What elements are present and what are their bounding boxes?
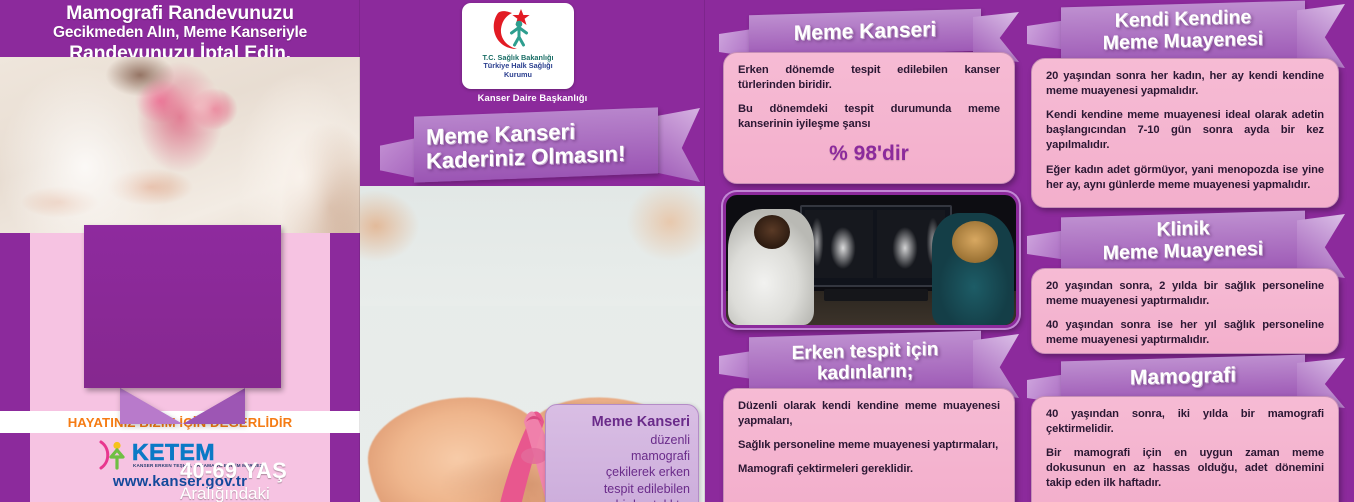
callout-ribbon-tail [120, 388, 245, 424]
card-body-pad: Düzenli olarak kendi kendine meme muayen… [724, 389, 1014, 485]
card-body-mamografi: 40 yaşından sonra, iki yılda bir mamogra… [1031, 396, 1339, 502]
card-title-kendi-kendine: Kendi Kendine Meme Muayenesi [1061, 1, 1305, 56]
card-body-meme-kanseri: Erken dönemde tespit edilebilen kanser t… [723, 52, 1015, 184]
center-note-card: Meme Kanseri düzenli mamografi çekilerek… [545, 404, 699, 502]
erken-tespit-paragraph-3: Mamografi çektirmeleri gereklidir. [738, 462, 1000, 477]
left-panel: Mamografi Randevunuzu Gecikmeden Alın, M… [0, 0, 360, 502]
kendi-kendine-paragraph-2: Kendi kendine meme muayenesi ideal olara… [1046, 108, 1324, 153]
center-note-line1: düzenli [554, 432, 690, 448]
card-body-klinik: 20 yaşından sonra, 2 yılda bir sağlık pe… [1031, 268, 1339, 354]
card-body-pad: 20 yaşından sonra, 2 yılda bir sağlık pe… [1032, 269, 1338, 356]
card-body-kendi-kendine: 20 yaşından sonra her kadın, her ay kend… [1031, 58, 1339, 208]
center-panel: T.C. Sağlık Bakanlığı Türkiye Halk Sağlı… [360, 0, 705, 502]
doctor-and-patient-reviewing-mammogram-photo [723, 192, 1019, 328]
meme-kanseri-paragraph-2: Bu dönemdeki tespit durumunda meme kanse… [738, 102, 1000, 132]
breast-cancer-awareness-poster: Mamografi Randevunuzu Gecikmeden Alın, M… [0, 0, 1354, 502]
klinik-paragraph-1: 20 yaşından sonra, 2 yılda bir sağlık pe… [1046, 279, 1324, 309]
mamografi-paragraph-2: Bir mamografi için en uygun zaman meme d… [1046, 446, 1324, 491]
left-header-line1: Mamografi Randevunuzu [0, 2, 360, 25]
card-title-line1: Klinik [1156, 217, 1209, 240]
ministry-logo-line2: Türkiye Halk Sağlığı Kurumu [462, 62, 574, 80]
age-range-label: 40-69 YAŞ [180, 459, 360, 484]
card-title-line1: Erken tespit için [792, 339, 939, 364]
center-note-heading: Meme Kanseri [554, 413, 690, 432]
ministry-logo-line2-text: Türkiye Halk Sağlığı [483, 61, 552, 70]
card-header-kendi-kendine: Kendi Kendine Meme Muayenesi [1027, 4, 1345, 66]
klinik-paragraph-2: 40 yaşından sonra ise her yıl sağlık per… [1046, 318, 1324, 348]
center-note-line4: tespit edilebilen [554, 481, 690, 497]
left-pink-edge-left [0, 233, 30, 416]
erken-tespit-paragraph-1: Düzenli olarak kendi kendine meme muayen… [738, 399, 1000, 429]
card-title-klinik: Klinik Meme Muayenesi [1061, 211, 1305, 266]
kendi-kendine-paragraph-1: 20 yaşından sonra her kadın, her ay kend… [1046, 69, 1324, 99]
center-title-banner: Meme Kanseri Kaderiniz Olmasın! [380, 108, 705, 188]
patient-head [952, 221, 998, 263]
card-title-line2: kadınların; [817, 361, 913, 385]
banner-text: Meme Kanseri Kaderiniz Olmasın! [426, 116, 658, 175]
left-header-bar: Mamografi Randevunuzu Gecikmeden Alın, M… [0, 0, 360, 56]
mammogram-monitor [800, 205, 952, 287]
age-callout-line2: Aralığındaki [180, 484, 360, 502]
ministry-health-emblem-icon [490, 7, 548, 53]
mammogram-image-right [805, 210, 873, 278]
ministry-logo-line3-text: Kurumu [504, 70, 532, 79]
card-header-klinik: Klinik Meme Muayenesi [1027, 214, 1345, 276]
center-note-line3: çekilerek erken [554, 464, 690, 480]
left-header-line2: Gecikmeden Alın, Meme Kanseriyle [0, 24, 360, 42]
department-caption: Kanser Daire Başkanlığı [360, 92, 705, 103]
center-note-line2: mamografi [554, 448, 690, 464]
card-body-erken-tespit: Düzenli olarak kendi kendine meme muayen… [723, 388, 1015, 502]
age-callout-box: 40-69 YAŞ Aralığındaki Kadınlar Mamograf… [84, 225, 281, 388]
age-callout-text: 40-69 YAŞ Aralığındaki Kadınlar Mamograf… [180, 459, 360, 502]
erken-tespit-paragraph-2: Sağlık personeline meme muayenesi yaptır… [738, 438, 1000, 453]
doctor-head [754, 215, 790, 249]
card-title-line2: Meme Muayenesi [1103, 238, 1263, 264]
doctor-figure [728, 209, 814, 325]
left-pink-edge-right [330, 233, 360, 416]
kendi-kendine-paragraph-3: Eğer kadın adet görmüyor, yani menopozda… [1046, 163, 1324, 193]
card-body-pad: Erken dönemde tespit edilebilen kanser t… [724, 53, 1014, 174]
couple-with-flowers-photo [0, 57, 360, 233]
banner-right-tail [652, 108, 700, 182]
survival-rate-highlight: % 98'dir [738, 142, 1000, 166]
center-note-line5: bir hastalıktır. [554, 497, 690, 502]
keyboard [824, 289, 928, 301]
card-header-erken-tespit: Erken tespit için kadınların; [719, 334, 1019, 396]
ministry-of-health-logo-card: T.C. Sağlık Bakanlığı Türkiye Halk Sağlı… [462, 3, 574, 89]
card-body-pad: 20 yaşından sonra her kadın, her ay kend… [1032, 59, 1338, 201]
right-panel: Meme Kanseri Erken dönemde tespit edileb… [705, 0, 1354, 502]
card-title-line2: Meme Muayenesi [1103, 28, 1263, 54]
patient-figure [932, 213, 1014, 325]
photo-background-blur [360, 186, 705, 306]
mamografi-paragraph-1: 40 yaşından sonra, iki yılda bir mamogra… [1046, 407, 1324, 437]
card-title-meme-kanseri: Meme Kanseri [749, 9, 981, 47]
card-title-erken-tespit: Erken tespit için kadınların; [749, 331, 981, 387]
center-note-text: Meme Kanseri düzenli mamografi çekilerek… [554, 413, 690, 502]
card-body-pad: 40 yaşından sonra, iki yılda bir mamogra… [1032, 397, 1338, 500]
ketem-figure-icon [98, 440, 128, 470]
meme-kanseri-paragraph-1: Erken dönemde tespit edilebilen kanser t… [738, 63, 1000, 93]
